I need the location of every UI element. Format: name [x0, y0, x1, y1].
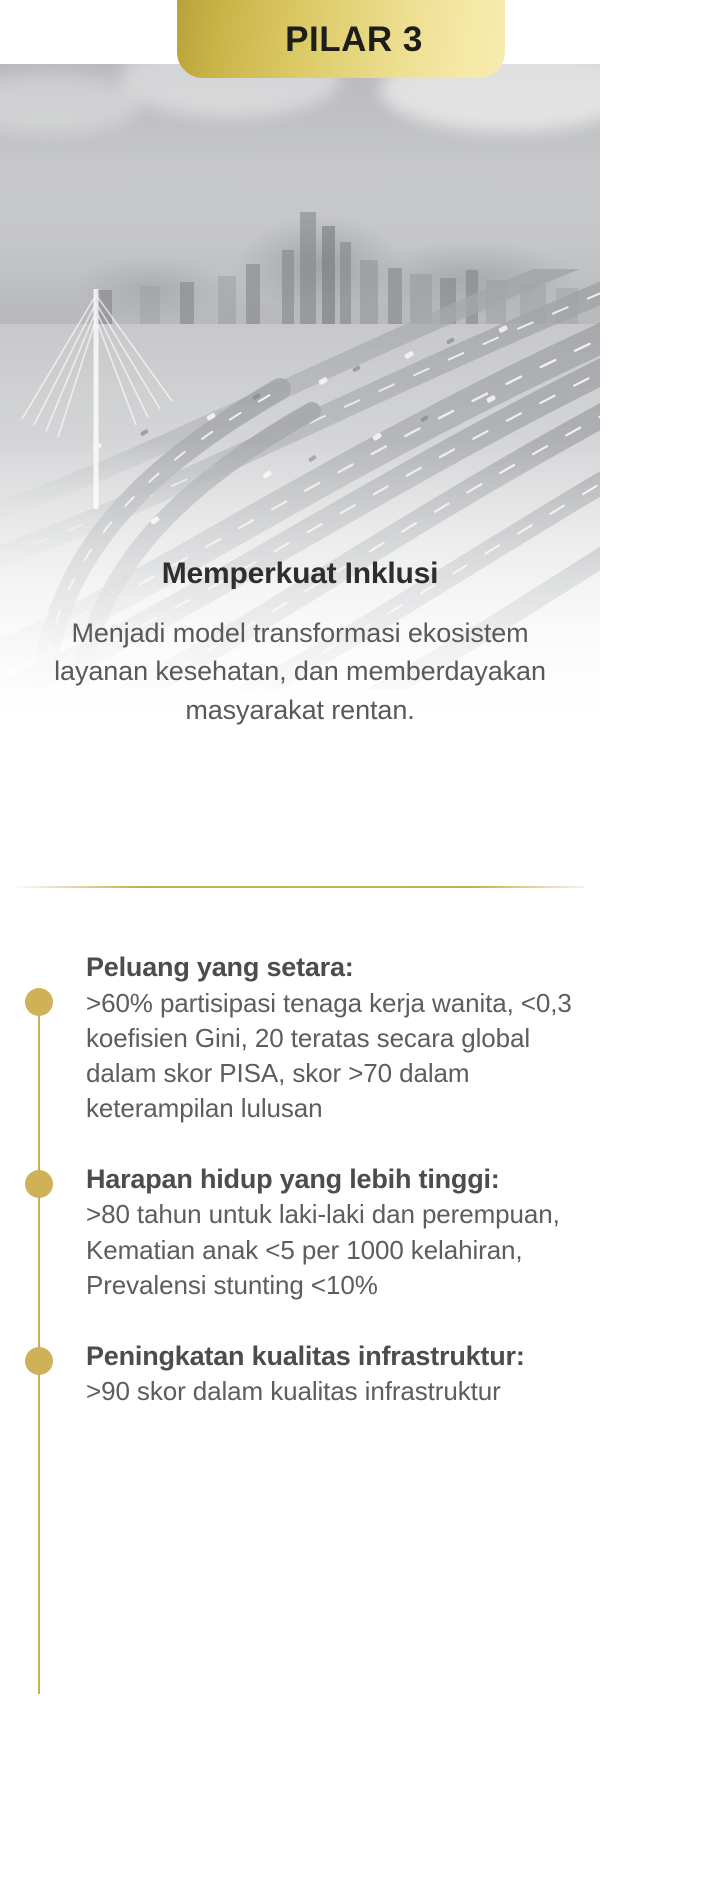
targets-timeline: Peluang yang setara: >60% partisipasi te…	[0, 950, 600, 1409]
timeline-dot-icon	[25, 1170, 53, 1198]
pillar-card: PILAR 3 Memperkuat Inklusi Menjadi model…	[0, 0, 720, 1888]
section-divider	[16, 886, 584, 888]
list-item-title: Peluang yang setara:	[86, 950, 586, 985]
list-item-title: Harapan hidup yang lebih tinggi:	[86, 1162, 586, 1197]
list-item-text: >60% partisipasi tenaga kerja wanita, <0…	[86, 986, 586, 1126]
timeline-dot-icon	[25, 988, 53, 1016]
list-item-body: Peningkatan kualitas infrastruktur: >90 …	[86, 1339, 600, 1410]
list-item: Harapan hidup yang lebih tinggi: >80 tah…	[0, 1162, 600, 1303]
pilar-banner: PILAR 3	[177, 0, 505, 78]
timeline-dot-cell	[0, 1339, 86, 1340]
list-item-text: >80 tahun untuk laki-laki dan perempuan,…	[86, 1197, 586, 1302]
hero-text-block: Memperkuat Inklusi Menjadi model transfo…	[0, 556, 600, 729]
list-item-body: Peluang yang setara: >60% partisipasi te…	[86, 950, 600, 1126]
list-item-body: Harapan hidup yang lebih tinggi: >80 tah…	[86, 1162, 600, 1303]
timeline-dot-icon	[25, 1347, 53, 1375]
page-description: Menjadi model transformasi ekosistem lay…	[0, 614, 600, 729]
list-item: Peningkatan kualitas infrastruktur: >90 …	[0, 1339, 600, 1410]
timeline-dot-cell	[0, 950, 86, 951]
timeline-dot-cell	[0, 1162, 86, 1163]
list-item-text: >90 skor dalam kualitas infrastruktur	[86, 1374, 586, 1409]
list-item: Peluang yang setara: >60% partisipasi te…	[0, 950, 600, 1126]
page-title: Memperkuat Inklusi	[0, 556, 600, 592]
list-item-title: Peningkatan kualitas infrastruktur:	[86, 1339, 586, 1374]
pilar-banner-label: PILAR 3	[259, 22, 423, 57]
